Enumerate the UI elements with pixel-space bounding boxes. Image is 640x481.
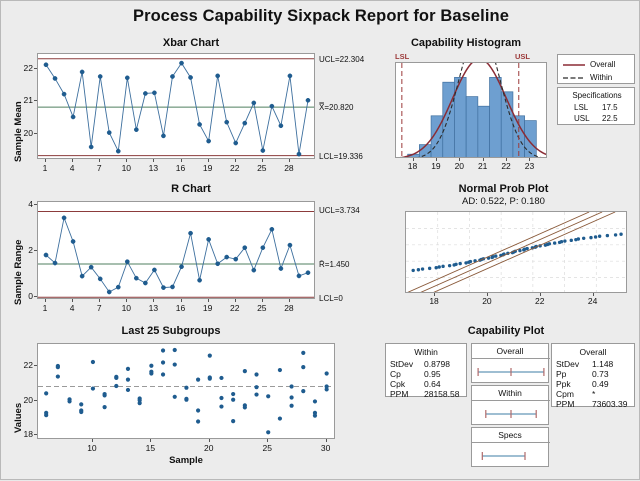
- axis-tick-label: 25: [257, 443, 277, 453]
- overall-stdev-value: 1.148: [592, 359, 613, 369]
- axis-tick-mark: [34, 296, 37, 297]
- overall-stdev-label: StDev: [556, 359, 579, 369]
- xbar-ucl-annotation: UCL=22.304: [319, 55, 364, 64]
- axis-tick-label: 21: [473, 161, 493, 171]
- axis-tick-label: 18: [403, 161, 423, 171]
- axis-tick-label: 28: [279, 303, 299, 313]
- axis-tick-mark: [153, 159, 154, 162]
- axis-tick-mark: [235, 299, 236, 302]
- within-cpk-value: 0.64: [424, 379, 441, 389]
- histogram-legend-box: Overall Within: [557, 54, 635, 84]
- capability-histogram-title: Capability Histogram: [381, 37, 551, 49]
- within-ppm-value: 28158.58: [424, 389, 459, 399]
- spec-lsl-value: 17.5: [602, 103, 618, 112]
- axis-tick-mark: [92, 439, 93, 442]
- axis-tick-label: 24: [583, 296, 603, 306]
- axis-tick-mark: [326, 439, 327, 442]
- legend-label-within: Within: [590, 73, 612, 82]
- axis-tick-mark: [34, 250, 37, 251]
- capability-plot-panel: Capability Plot Within StDev 0.8798 Cp 0…: [381, 325, 640, 481]
- axis-tick-mark: [34, 133, 37, 134]
- axis-tick-label: 4: [62, 303, 82, 313]
- overall-ppk-label: Ppk: [556, 379, 571, 389]
- axis-tick-mark: [506, 158, 507, 161]
- axis-tick-label: 18: [424, 296, 444, 306]
- axis-tick-label: 1: [35, 163, 55, 173]
- axis-tick-mark: [72, 299, 73, 302]
- axis-tick-label: 20: [15, 128, 33, 138]
- spec-usl-value: 22.5: [602, 114, 618, 123]
- capability-band-interval: [472, 344, 550, 384]
- within-cp-value: 0.95: [424, 369, 441, 379]
- spec-usl-label: USL: [574, 114, 590, 123]
- axis-tick-label: 10: [116, 303, 136, 313]
- axis-tick-mark: [487, 293, 488, 296]
- capability-band-interval: [472, 386, 550, 426]
- capability-band-interval: [472, 428, 550, 468]
- axis-tick-label: 19: [426, 161, 446, 171]
- capability-histogram-panel: Capability Histogram LSL USL 18192021222…: [381, 37, 640, 185]
- r-chart-panel: R Chart Sample Range 420 147101316192225…: [1, 183, 381, 325]
- axis-tick-label: 19: [198, 303, 218, 313]
- axis-tick-mark: [459, 158, 460, 161]
- axis-tick-label: 16: [171, 303, 191, 313]
- axis-tick-mark: [436, 158, 437, 161]
- axis-tick-label: 7: [89, 163, 109, 173]
- xbar-chart-title: Xbar Chart: [1, 37, 381, 49]
- axis-tick-mark: [34, 68, 37, 69]
- axis-tick-mark: [181, 299, 182, 302]
- axis-tick-mark: [150, 439, 151, 442]
- axis-tick-label: 10: [82, 443, 102, 453]
- axis-tick-label: 20: [15, 395, 33, 405]
- axis-tick-mark: [34, 365, 37, 366]
- r-chart-ucl-annotation: UCL=3.734: [319, 206, 360, 215]
- axis-tick-mark: [235, 159, 236, 162]
- axis-tick-label: 23: [519, 161, 539, 171]
- r-chart-lcl-annotation: LCL=0: [319, 294, 343, 303]
- axis-tick-mark: [434, 293, 435, 296]
- axis-tick-label: 13: [143, 303, 163, 313]
- axis-tick-mark: [45, 299, 46, 302]
- normal-prob-plot-panel: Normal Prob Plot AD: 0.522, P: 0.180 182…: [381, 183, 640, 325]
- axis-tick-mark: [34, 204, 37, 205]
- axis-tick-mark: [99, 159, 100, 162]
- axis-tick-mark: [45, 159, 46, 162]
- axis-tick-mark: [262, 159, 263, 162]
- overall-ppk-value: 0.49: [592, 379, 609, 389]
- xbar-series-svg: [38, 54, 315, 159]
- axis-tick-label: 28: [279, 163, 299, 173]
- axis-tick-label: 7: [89, 303, 109, 313]
- axis-tick-label: 16: [171, 163, 191, 173]
- prob-plot-svg: [406, 212, 627, 293]
- axis-tick-mark: [34, 434, 37, 435]
- overall-ppm-label: PPM: [556, 399, 574, 409]
- last-25-scatter-svg: [38, 344, 335, 439]
- axis-tick-label: 21: [15, 95, 33, 105]
- normal-prob-plot-area: [405, 211, 627, 293]
- normal-prob-plot-title: Normal Prob Plot: [381, 183, 626, 195]
- axis-tick-mark: [413, 158, 414, 161]
- axis-tick-label: 15: [140, 443, 160, 453]
- axis-tick-label: 22: [496, 161, 516, 171]
- specifications-title: Specifications: [558, 91, 636, 100]
- histogram-bars-svg: [396, 63, 547, 158]
- legend-label-overall: Overall: [590, 60, 615, 69]
- capability-band-overall: Overall: [471, 343, 549, 383]
- last-25-subgroups-title: Last 25 Subgroups: [1, 325, 341, 337]
- axis-tick-label: 4: [62, 163, 82, 173]
- axis-tick-label: 19: [198, 163, 218, 173]
- within-stdev-label: StDev: [390, 359, 413, 369]
- axis-tick-label: 22: [15, 360, 33, 370]
- xbar-plot-area: [37, 53, 315, 159]
- process-capability-sixpack-report: Process Capability Sixpack Report for Ba…: [0, 0, 640, 480]
- axis-tick-label: 1: [35, 303, 55, 313]
- axis-tick-mark: [72, 159, 73, 162]
- axis-tick-mark: [208, 159, 209, 162]
- r-chart-series-svg: [38, 202, 315, 299]
- within-stats-box: Within StDev 0.8798 Cp 0.95 Cpk 0.64 PPM…: [385, 343, 467, 397]
- normal-prob-plot-subtitle: AD: 0.522, P: 0.180: [381, 196, 626, 207]
- axis-tick-mark: [99, 299, 100, 302]
- axis-tick-label: 0: [15, 291, 33, 301]
- axis-tick-mark: [483, 158, 484, 161]
- specifications-box: Specifications LSL 17.5 USL 22.5: [557, 87, 635, 125]
- axis-tick-mark: [181, 159, 182, 162]
- r-chart-plot-area: [37, 201, 315, 299]
- xbar-center-annotation: X̿=20.820: [319, 103, 353, 112]
- axis-tick-label: 22: [15, 63, 33, 73]
- overall-stats-header: Overall: [552, 347, 634, 357]
- r-chart-title: R Chart: [1, 183, 381, 195]
- overall-ppm-value: 73603.39: [592, 399, 627, 409]
- axis-tick-mark: [529, 158, 530, 161]
- axis-tick-mark: [34, 100, 37, 101]
- axis-tick-label: 2: [15, 245, 33, 255]
- within-stats-header: Within: [386, 347, 466, 357]
- axis-tick-label: 18: [15, 429, 33, 439]
- axis-tick-label: 22: [225, 163, 245, 173]
- capability-band-within: Within: [471, 385, 549, 425]
- axis-tick-label: 22: [530, 296, 550, 306]
- xbar-chart-panel: Xbar Chart Sample Mean 222120 1471013161…: [1, 37, 381, 185]
- axis-tick-mark: [593, 293, 594, 296]
- axis-tick-mark: [126, 299, 127, 302]
- axis-tick-mark: [208, 299, 209, 302]
- axis-tick-label: 30: [316, 443, 336, 453]
- r-chart-center-annotation: R̄=1.450: [319, 260, 349, 269]
- within-stdev-value: 0.8798: [424, 359, 450, 369]
- axis-tick-label: 25: [252, 303, 272, 313]
- axis-tick-label: 13: [143, 163, 163, 173]
- last-25-plot-area: [37, 343, 335, 439]
- axis-tick-mark: [289, 299, 290, 302]
- within-ppm-label: PPM: [390, 389, 408, 399]
- axis-tick-label: 25: [252, 163, 272, 173]
- axis-tick-mark: [153, 299, 154, 302]
- axis-tick-mark: [126, 159, 127, 162]
- axis-tick-mark: [289, 159, 290, 162]
- axis-tick-mark: [34, 400, 37, 401]
- page-title: Process Capability Sixpack Report for Ba…: [1, 7, 640, 26]
- histogram-lsl-label: LSL: [395, 52, 409, 61]
- capability-band-specs: Specs: [471, 427, 549, 467]
- overall-pp-value: 0.73: [592, 369, 609, 379]
- histogram-usl-label: USL: [515, 52, 530, 61]
- axis-tick-label: 20: [477, 296, 497, 306]
- axis-tick-mark: [267, 439, 268, 442]
- histogram-plot-area: [395, 62, 547, 158]
- capability-plot-title: Capability Plot: [381, 325, 631, 337]
- spec-lsl-label: LSL: [574, 103, 588, 112]
- overall-pp-label: Pp: [556, 369, 566, 379]
- axis-tick-mark: [540, 293, 541, 296]
- axis-tick-label: 10: [116, 163, 136, 173]
- axis-tick-label: 4: [15, 199, 33, 209]
- overall-cpm-label: Cpm: [556, 389, 574, 399]
- axis-tick-mark: [209, 439, 210, 442]
- axis-tick-mark: [262, 299, 263, 302]
- axis-tick-label: 20: [199, 443, 219, 453]
- within-cpk-label: Cpk: [390, 379, 405, 389]
- overall-cpm-value: *: [592, 389, 595, 399]
- within-cp-label: Cp: [390, 369, 401, 379]
- axis-tick-label: 22: [225, 303, 245, 313]
- xbar-lcl-annotation: LCL=19.336: [319, 152, 363, 161]
- last-25-x-axis-label: Sample: [37, 455, 335, 466]
- overall-stats-box: Overall StDev 1.148 Pp 0.73 Ppk 0.49 Cpm…: [551, 343, 635, 407]
- last-25-subgroups-panel: Last 25 Subgroups Values 222018 10152025…: [1, 325, 381, 481]
- axis-tick-label: 20: [449, 161, 469, 171]
